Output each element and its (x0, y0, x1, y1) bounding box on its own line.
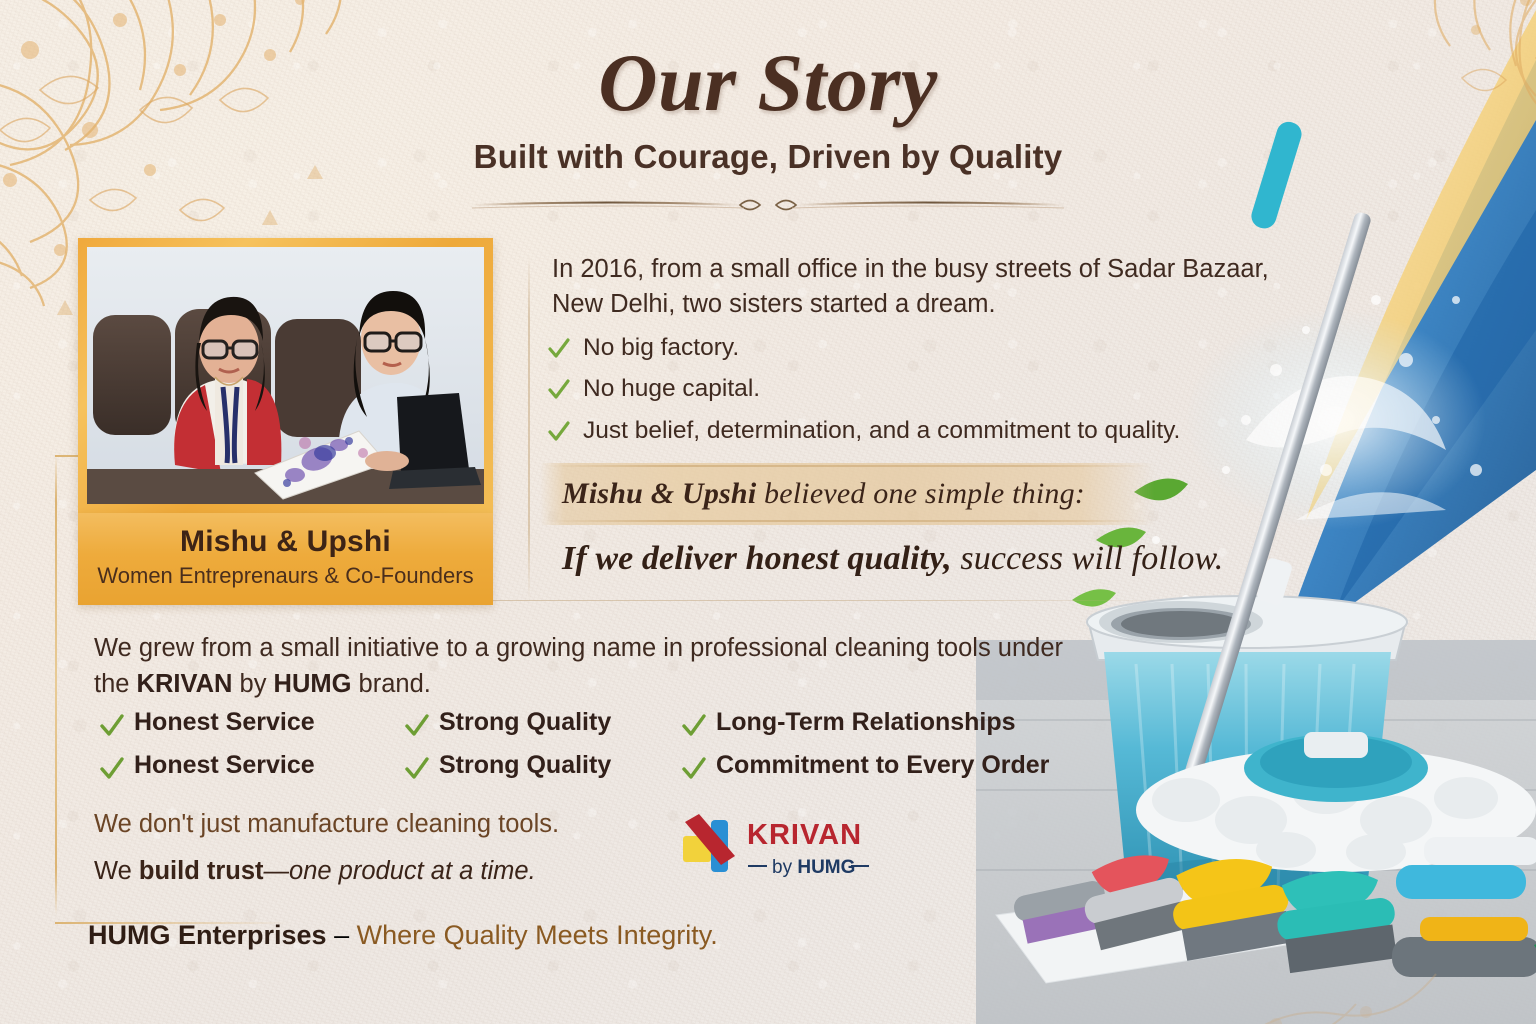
benefit-label: Honest Service (134, 751, 315, 780)
intro-paragraph: In 2016, from a small office in the busy… (552, 252, 1312, 322)
benefit-item: Honest Service (100, 708, 405, 737)
benefit-item: Strong Quality (405, 708, 682, 737)
benefits-grid: Honest Service Strong Quality Long-Term … (100, 708, 1100, 794)
quote-line-1: Mishu & Upshi believed one simple thing: (562, 477, 1282, 511)
tagline-line-1: We don't just manufacture cleaning tools… (94, 812, 714, 838)
quote-line-2-rest: success will follow. (952, 540, 1224, 577)
benefit-label: Strong Quality (439, 751, 611, 780)
check-icon (682, 756, 704, 780)
page-subtitle: Built with Courage, Driven by Quality (0, 138, 1536, 176)
quote-line-1-rest: believed one simple thing: (756, 477, 1085, 510)
founders-photo-card: Mishu & Upshi Women Entreprenaurs & Co-F… (78, 238, 493, 605)
krivan-cross-mark-icon (683, 814, 735, 872)
quote-line-1-bold: Mishu & Upshi (562, 477, 756, 510)
growth-paragraph: We grew from a small initiative to a gro… (94, 630, 1084, 702)
brand-krivan: KRIVAN (137, 670, 233, 698)
benefit-label: Long-Term Relationships (716, 708, 1016, 737)
tagline-line-2: We build trust—one product at a time. (94, 857, 734, 886)
check-icon (548, 420, 570, 444)
check-icon (405, 756, 427, 780)
check-icon (100, 756, 122, 780)
founders-photo (87, 247, 484, 504)
footer-accent: Where Quality Meets Integrity. (357, 920, 718, 950)
check-icon (100, 713, 122, 737)
growth-mid: by (232, 670, 273, 698)
footer-dash: – (327, 920, 357, 950)
tagline-line-2-c: —one product at a time. (264, 857, 536, 885)
list-item-label: Just belief, determination, and a commit… (583, 416, 1180, 445)
mop-handle (1175, 119, 1373, 809)
flourish-divider-icon (468, 192, 1068, 218)
paisley-corner-ornament-bottom-right (1046, 884, 1476, 1024)
page-title: Our Story (0, 42, 1536, 124)
founders-role: Women Entreprenaurs & Co-Founders (88, 563, 483, 589)
benefit-item: Strong Quality (405, 751, 682, 780)
benefit-label: Strong Quality (439, 708, 611, 737)
check-icon (548, 337, 570, 361)
footer-tagline: HUMG Enterprises – Where Quality Meets I… (88, 920, 928, 951)
story-checklist: No big factory. No huge capital. Just be… (548, 333, 1308, 457)
check-icon (682, 713, 704, 737)
benefit-label: Honest Service (134, 708, 315, 737)
left-frame-vertical-line (55, 455, 57, 915)
list-item: No huge capital. (548, 374, 1308, 403)
list-item: Just belief, determination, and a commit… (548, 416, 1308, 445)
svg-text:KRIVAN: KRIVAN (747, 819, 862, 851)
header: Our Story Built with Courage, Driven by … (0, 42, 1536, 218)
benefit-item: Commitment to Every Order (682, 751, 1049, 780)
benefit-item: Honest Service (100, 751, 405, 780)
poster-canvas: Our Story Built with Courage, Driven by … (0, 0, 1536, 1024)
tagline-line-2-a: We (94, 857, 139, 885)
spin-mop-bucket (1087, 596, 1407, 902)
check-icon (405, 713, 427, 737)
column-divider-line (528, 255, 530, 600)
quote-line-2-bold: If we deliver honest quality, (562, 540, 952, 577)
benefits-row: Honest Service Strong Quality Long-Term … (100, 708, 1100, 737)
list-item-label: No huge capital. (583, 374, 760, 403)
mop-head (1136, 732, 1536, 872)
growth-suffix: brand. (351, 670, 430, 698)
krivan-logo: KRIVAN by HUMG (675, 808, 885, 888)
benefit-item: Long-Term Relationships (682, 708, 1016, 737)
photo-frame (78, 238, 493, 513)
brand-humg: HUMG (274, 670, 352, 698)
check-icon (548, 378, 570, 402)
list-item: No big factory. (548, 333, 1308, 362)
photo-caption: Mishu & Upshi Women Entreprenaurs & Co-F… (78, 513, 493, 605)
founders-name: Mishu & Upshi (88, 525, 483, 559)
quote-line-2: If we deliver honest quality, success wi… (562, 540, 1322, 578)
list-item-label: No big factory. (583, 333, 739, 362)
svg-text:by HUMG: by HUMG (772, 857, 855, 878)
benefit-label: Commitment to Every Order (716, 751, 1049, 780)
company-name: HUMG Enterprises (88, 920, 327, 950)
brush-group (996, 837, 1536, 983)
benefits-row: Honest Service Strong Quality Commitment… (100, 751, 1100, 780)
tagline-line-2-b: build trust (139, 857, 264, 885)
